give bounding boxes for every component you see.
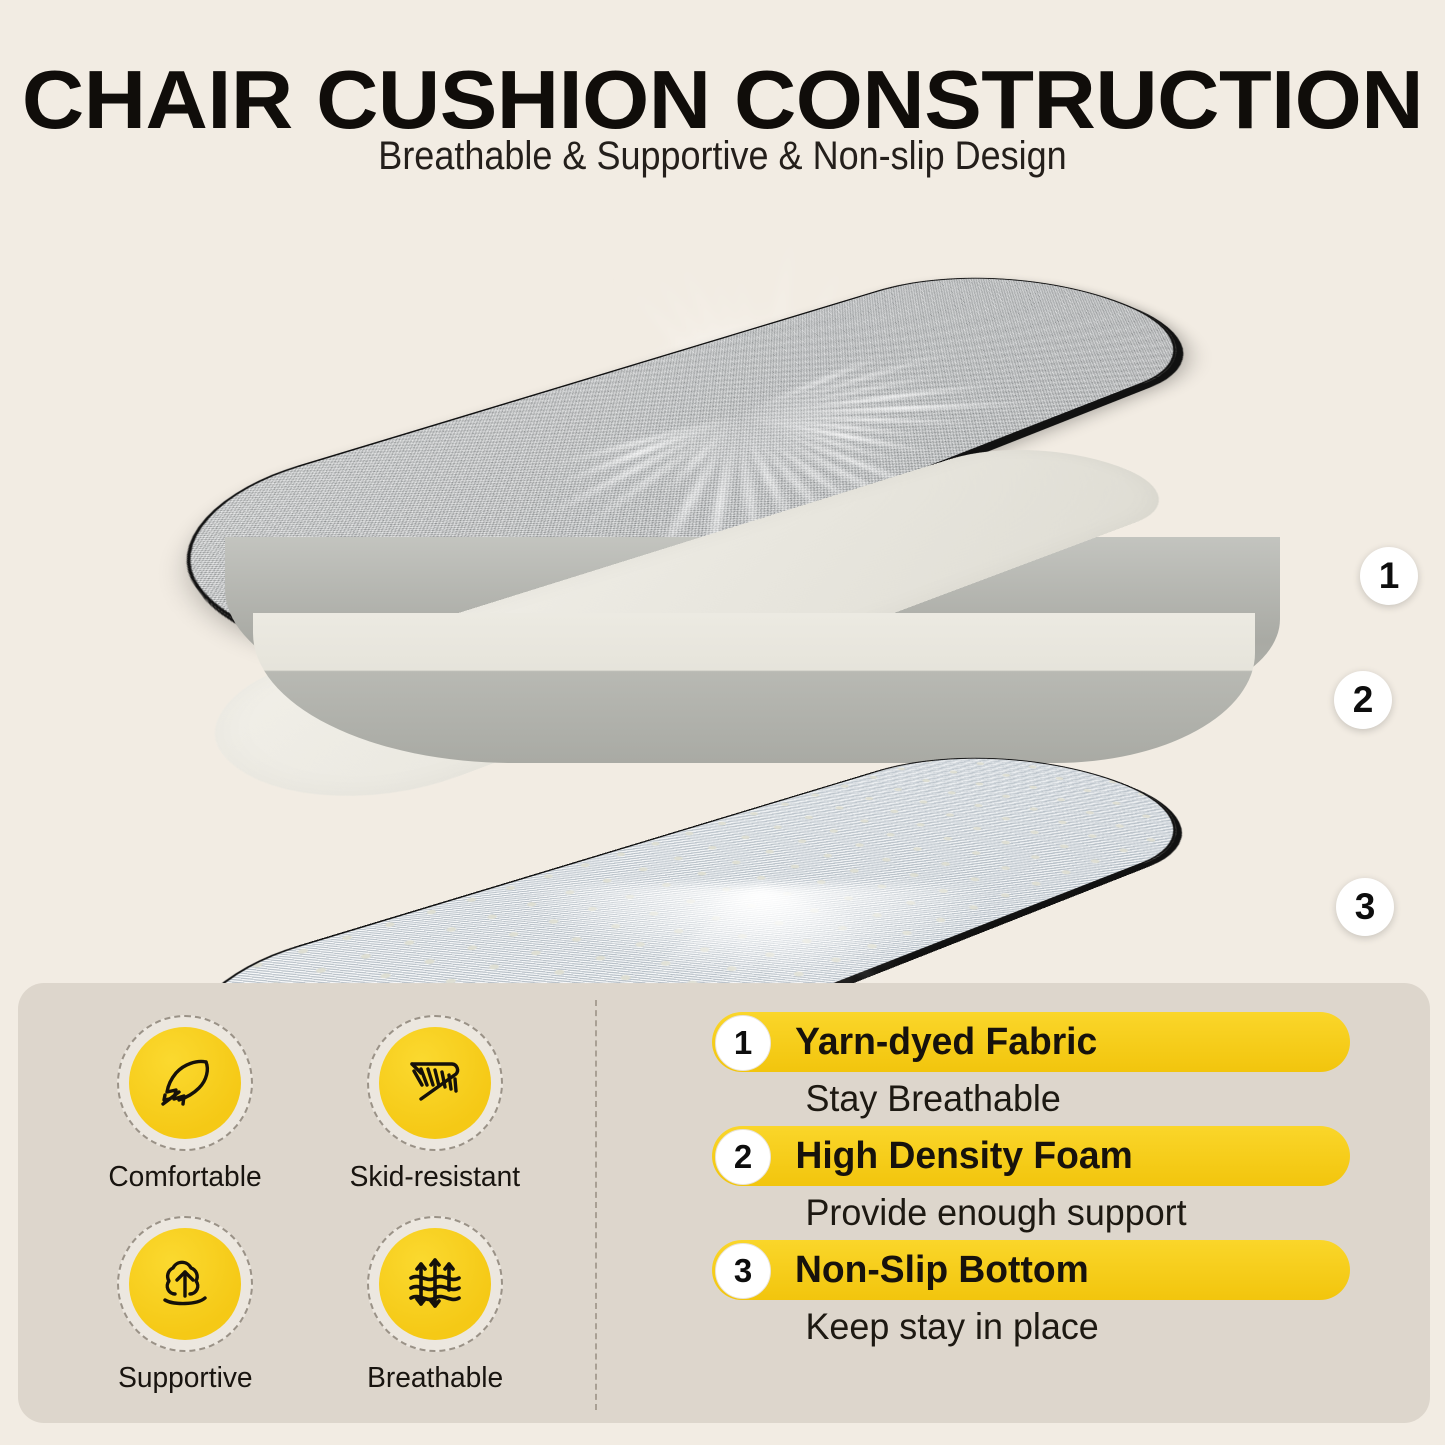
benefit-badge-ring [117,1216,253,1352]
layer-callout-1: 1 [1360,547,1418,605]
benefit-comfortable[interactable]: Comfortable [60,1015,310,1194]
benefit-badge-ring [367,1216,503,1352]
page-subtitle: Breathable & Supportive & Non-slip Desig… [72,134,1373,179]
benefit-badge-fill [379,1228,491,1340]
benefit-label: Skid-resistant [350,1161,520,1194]
benefit-badge-ring [367,1015,503,1151]
feature-title: High Density Foam [795,1135,1132,1178]
feature-item[interactable]: 1 Yarn-dyed Fabric Stay Breathable [712,1012,1362,1120]
feature-item[interactable]: 3 Non-Slip Bottom Keep stay in place [712,1240,1362,1348]
feature-pill[interactable]: 2 High Density Foam [712,1126,1350,1186]
panel-divider [595,1000,597,1410]
fabric-ray [735,414,920,468]
layer-callout-2: 2 [1334,671,1392,729]
feature-pill[interactable]: 3 Non-Slip Bottom [712,1240,1350,1300]
benefit-label: Comfortable [108,1161,261,1194]
cushion-arrow-icon [149,1248,221,1320]
feature-subtitle: Stay Breathable [805,1078,1353,1120]
feather-icon [149,1047,221,1119]
benefit-breathable[interactable]: Breathable [310,1216,560,1395]
benefit-badge-ring [117,1015,253,1151]
feature-number: 3 [715,1243,771,1299]
feature-item[interactable]: 2 High Density Foam Provide enough suppo… [712,1126,1362,1234]
fabric-ray [542,414,739,469]
benefit-icon-grid: Comfortable Skid-resistant [60,1015,560,1395]
feature-number: 1 [715,1015,771,1071]
benefit-badge-fill [129,1228,241,1340]
product-exploded-view: 1 2 3 [150,195,1330,985]
brush-icon [399,1047,471,1119]
feature-list: 1 Yarn-dyed Fabric Stay Breathable 2 Hig… [712,1012,1362,1354]
feature-number: 2 [715,1129,771,1185]
benefit-badge-fill [379,1027,491,1139]
feature-subtitle: Keep stay in place [805,1306,1353,1348]
benefit-badge-fill [129,1027,241,1139]
benefit-label: Breathable [367,1362,503,1395]
feature-title: Non-Slip Bottom [795,1249,1089,1292]
benefit-label: Supportive [118,1362,252,1395]
benefit-skid-resistant[interactable]: Skid-resistant [310,1015,560,1194]
layer-high-density-foam [225,463,1280,813]
infographic-stage: CHAIR CUSHION CONSTRUCTION Breathable & … [0,0,1445,1445]
feature-subtitle: Provide enough support [805,1192,1353,1234]
benefit-supportive[interactable]: Supportive [60,1216,310,1395]
layer-callout-3: 3 [1336,878,1394,936]
airflow-arrows-icon [399,1248,471,1320]
feature-title: Yarn-dyed Fabric [795,1021,1097,1064]
feature-pill[interactable]: 1 Yarn-dyed Fabric [712,1012,1350,1072]
foam-front-face [253,613,1255,763]
